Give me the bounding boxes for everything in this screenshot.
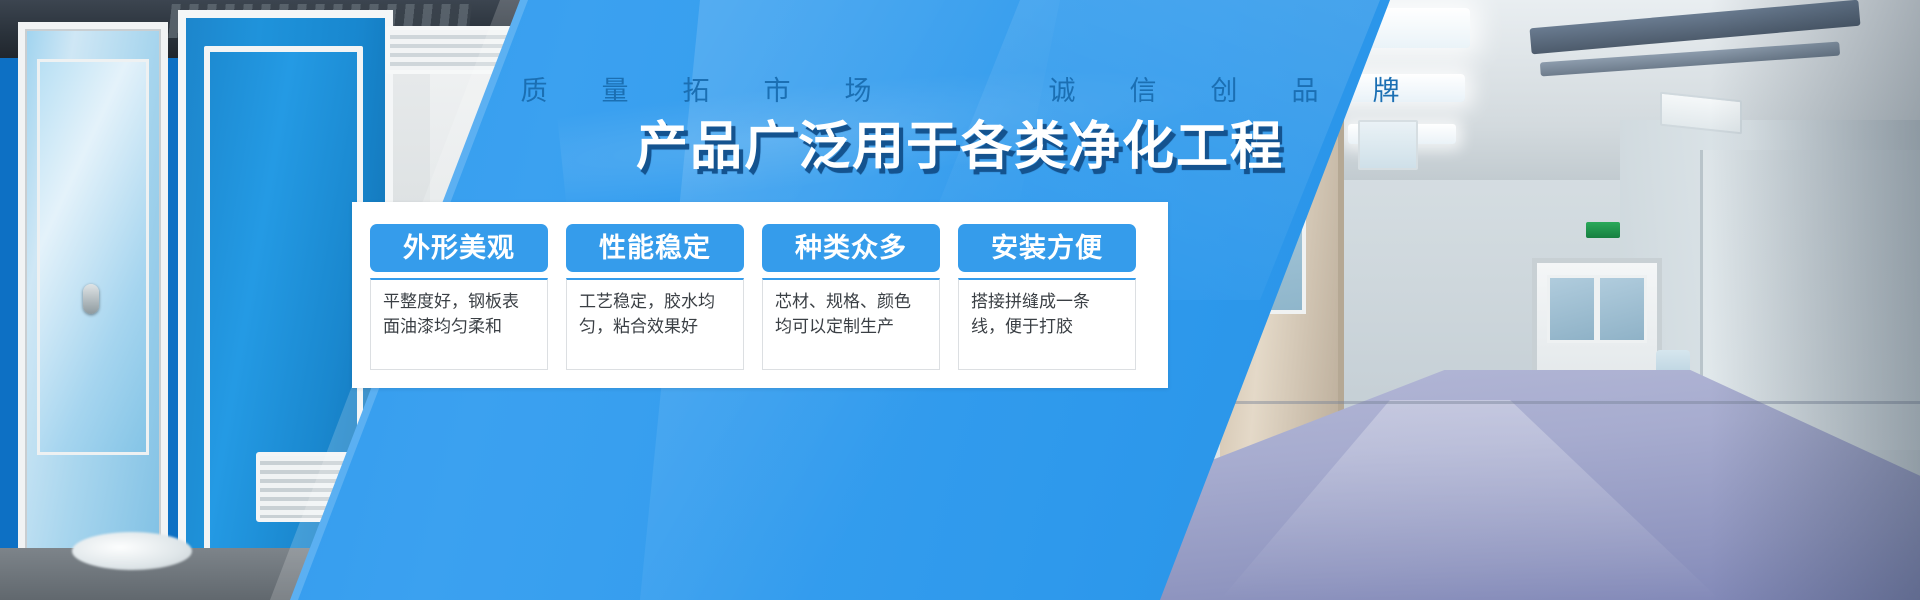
feature-card[interactable]: 种类众多 芯材、规格、颜色均可以定制生产 xyxy=(762,224,940,370)
feature-card-panel: 外形美观 平整度好，钢板表面油漆均匀柔和 性能稳定 工艺稳定，胶水均匀，粘合效果… xyxy=(352,202,1168,388)
exit-sign-icon xyxy=(1586,222,1620,238)
banner-stage: 质 量 拓 市 场 诚 信 创 品 牌 产品广泛用于各类净化工程 外形美观 平整… xyxy=(0,0,1920,600)
feature-card-body: 工艺稳定，胶水均匀，粘合效果好 xyxy=(566,278,744,370)
feature-card[interactable]: 外形美观 平整度好，钢板表面油漆均匀柔和 xyxy=(370,224,548,370)
cabin-handle-left xyxy=(83,284,99,314)
banner-subtitle: 质 量 拓 市 场 诚 信 创 品 牌 xyxy=(0,74,1920,108)
feature-card-title: 种类众多 xyxy=(762,224,940,272)
feature-card-row: 外形美观 平整度好，钢板表面油漆均匀柔和 性能稳定 工艺稳定，胶水均匀，粘合效果… xyxy=(370,224,1136,370)
feature-card-title: 外形美观 xyxy=(370,224,548,272)
ground-snow-patch xyxy=(72,532,192,570)
banner-headline: 产品广泛用于各类净化工程 xyxy=(0,116,1920,178)
feature-card-body: 芯材、规格、颜色均可以定制生产 xyxy=(762,278,940,370)
feature-card[interactable]: 安装方便 搭接拼缝成一条线，便于打胶 xyxy=(958,224,1136,370)
feature-card-body: 平整度好，钢板表面油漆均匀柔和 xyxy=(370,278,548,370)
feature-card[interactable]: 性能稳定 工艺稳定，胶水均匀，粘合效果好 xyxy=(566,224,744,370)
feature-card-title: 安装方便 xyxy=(958,224,1136,272)
feature-card-body: 搭接拼缝成一条线，便于打胶 xyxy=(958,278,1136,370)
feature-card-title: 性能稳定 xyxy=(566,224,744,272)
